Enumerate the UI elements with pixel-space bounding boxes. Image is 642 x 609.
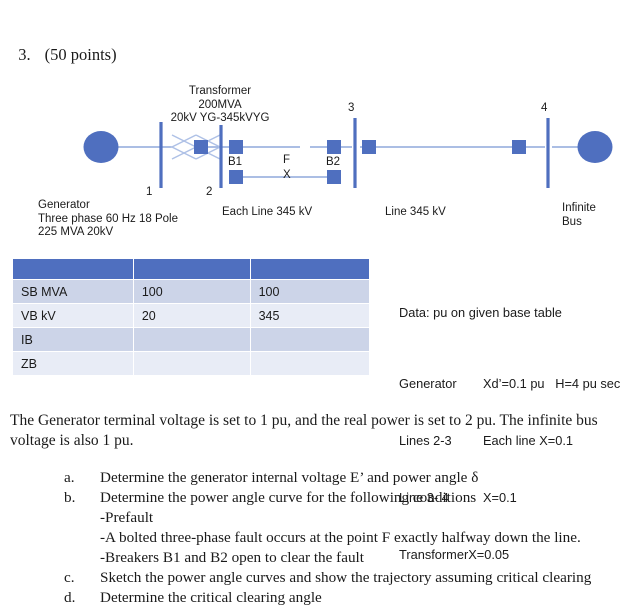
bus-label-1: 1 <box>146 186 152 200</box>
list-marker: d. <box>64 588 100 608</box>
block-xfmr-out <box>194 140 208 154</box>
list-item: b. Determine the power angle curve for t… <box>64 488 634 508</box>
list-item: c. Sketch the power angle curves and sho… <box>64 568 634 588</box>
row-value-1: 20 <box>133 304 250 328</box>
table-header-cell-0 <box>13 259 134 280</box>
infinite-bus-symbol <box>578 131 613 163</box>
list-item-subline: -Breakers B1 and B2 open to clear the fa… <box>100 548 634 568</box>
list-item-text: Sketch the power angle curves and show t… <box>100 568 634 588</box>
row-label: ZB <box>13 352 134 376</box>
subquestion-list: a. Determine the generator internal volt… <box>64 468 634 608</box>
block-b2-lower <box>327 170 341 184</box>
table-header-cell-2 <box>250 259 369 280</box>
table-row: IB <box>13 328 370 352</box>
data-note-value: Xd’=0.1 pu H=4 pu sec <box>483 376 620 391</box>
bus-label-3: 3 <box>348 102 354 116</box>
row-label: VB kV <box>13 304 134 328</box>
table-row: SB MVA 100 100 <box>13 280 370 304</box>
block-b1-lower <box>229 170 243 184</box>
generator-symbol <box>84 131 119 163</box>
question-points: (50 points) <box>45 45 117 64</box>
block-bus4-in <box>512 140 526 154</box>
table-header-row <box>13 259 370 280</box>
generator-caption: Generator Three phase 60 Hz 18 Pole 225 … <box>38 199 178 240</box>
table-row: VB kV 20 345 <box>13 304 370 328</box>
fault-label-f: F <box>283 154 290 168</box>
list-item: d. Determine the critical clearing angle <box>64 588 634 608</box>
list-item-text: Determine the generator internal voltage… <box>100 468 634 488</box>
row-value-1 <box>133 352 250 376</box>
breaker-label-b2: B2 <box>326 156 340 170</box>
row-label: SB MVA <box>13 280 134 304</box>
bus-label-4: 4 <box>541 102 547 116</box>
data-note-row: GeneratorXd’=0.1 pu H=4 pu sec <box>399 374 620 393</box>
list-marker: b. <box>64 488 100 508</box>
data-note-item: Generator <box>399 374 483 393</box>
one-line-diagram: Transformer 200MVA 20kV YG-345kVYG 1 2 3… <box>0 80 642 245</box>
bus-bars <box>161 118 548 188</box>
list-item-subline: -Prefault <box>100 508 634 528</box>
each-line-caption: Each Line 345 kV <box>222 206 312 220</box>
transformer-label: Transformer 200MVA 20kV YG-345kVYG <box>140 85 300 126</box>
block-b2-upper <box>327 140 341 154</box>
list-marker: c. <box>64 568 100 588</box>
table-header-cell-1 <box>133 259 250 280</box>
row-value-2 <box>250 352 369 376</box>
row-value-2: 345 <box>250 304 369 328</box>
list-item: a. Determine the generator internal volt… <box>64 468 634 488</box>
table-row: ZB <box>13 352 370 376</box>
list-item-subline: -A bolted three-phase fault occurs at th… <box>100 528 634 548</box>
intro-paragraph: The Generator terminal voltage is set to… <box>10 411 634 451</box>
bus-label-2: 2 <box>206 186 212 200</box>
row-label: IB <box>13 328 134 352</box>
data-notes-title: Data: pu on given base table <box>399 303 620 322</box>
list-marker: a. <box>64 468 100 488</box>
base-values-table: SB MVA 100 100 VB kV 20 345 IB ZB <box>12 258 370 376</box>
row-value-2 <box>250 328 369 352</box>
row-value-1: 100 <box>133 280 250 304</box>
question-number: 3. <box>18 45 30 64</box>
row-value-1 <box>133 328 250 352</box>
fault-marker-x: X <box>283 169 291 183</box>
list-item-text: Determine the power angle curve for the … <box>100 488 634 508</box>
infinite-bus-caption: Infinite Bus <box>562 202 596 229</box>
list-item-text: Determine the critical clearing angle <box>100 588 634 608</box>
row-value-2: 100 <box>250 280 369 304</box>
breaker-label-b1: B1 <box>228 156 242 170</box>
block-bus3-out <box>362 140 376 154</box>
line-caption: Line 345 kV <box>385 206 446 220</box>
question-heading: 3.(50 points) <box>10 25 117 65</box>
block-b1-upper <box>229 140 243 154</box>
